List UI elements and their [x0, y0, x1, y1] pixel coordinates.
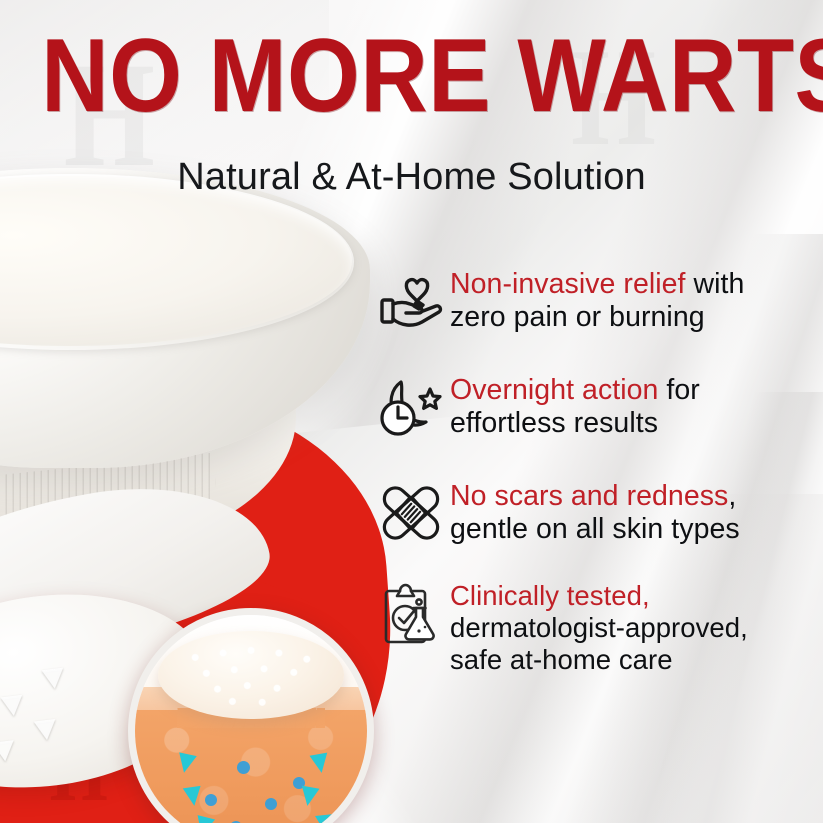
feature-line3: safe at-home care	[450, 644, 673, 675]
moon-clock-star-icon	[372, 368, 450, 446]
feature-line2: effortless results	[450, 407, 658, 439]
feature-highlight: Non-invasive relief	[450, 268, 686, 300]
feature-rest: with	[686, 268, 745, 300]
active-ingredient-dot	[205, 794, 217, 806]
hand-holding-heart-icon	[372, 262, 450, 340]
absorption-arrow-icon	[175, 753, 197, 775]
absorption-arrow-icon	[315, 814, 335, 823]
crossed-bandages-icon	[372, 474, 450, 552]
feature-text: Clinically tested, dermatologist-approve…	[450, 574, 748, 677]
page-title: NO MORE WARTS	[41, 24, 782, 128]
microneedle-patch-disc	[158, 631, 344, 719]
skin-cross-section-diagram	[128, 608, 374, 823]
absorption-arrow-icon	[182, 786, 202, 807]
feature-text: Non-invasive relief with zero pain or bu…	[450, 262, 744, 335]
feature-line2: zero pain or burning	[450, 301, 705, 333]
absorption-arrow-icon	[310, 753, 331, 775]
page-subtitle: Natural & At-Home Solution	[0, 156, 823, 199]
poster-canvas: H H H	[0, 0, 823, 823]
feature-line2: dermatologist-approved,	[450, 612, 748, 643]
feature-highlight: No scars and redness	[450, 480, 728, 512]
feature-rest: for	[658, 374, 699, 406]
feature-line2: gentle on all skin types	[450, 513, 740, 545]
absorption-arrow-icon	[298, 785, 319, 807]
feature-highlight: Clinically tested,	[450, 580, 650, 611]
list-item: Clinically tested, dermatologist-approve…	[372, 574, 812, 677]
clipboard-flask-icon	[372, 574, 450, 660]
list-item: No scars and redness, gentle on all skin…	[372, 474, 812, 552]
list-item: Non-invasive relief with zero pain or bu…	[372, 262, 812, 340]
feature-text: Overnight action for effortless results	[450, 368, 700, 441]
feature-list: Non-invasive relief with zero pain or bu…	[372, 258, 812, 699]
feature-text: No scars and redness, gentle on all skin…	[450, 474, 740, 547]
feature-rest: ,	[728, 480, 736, 512]
microneedle-dots	[158, 631, 344, 719]
list-item: Overnight action for effortless results	[372, 368, 812, 446]
feature-highlight: Overnight action	[450, 374, 658, 406]
